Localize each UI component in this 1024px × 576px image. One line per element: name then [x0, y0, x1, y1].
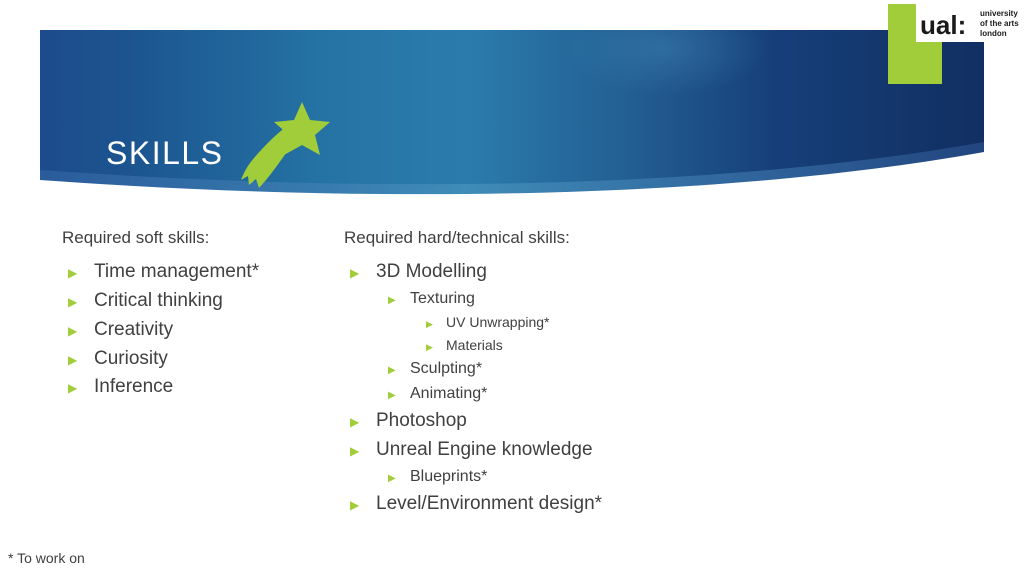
list-item: ▶Animating*	[344, 384, 904, 404]
list-item: ▶Inference	[62, 375, 342, 399]
list-item-label: Blueprints*	[410, 467, 487, 487]
list-item: ▶Creativity	[62, 318, 342, 342]
list-item: ▶Time management*	[62, 260, 342, 284]
list-item: ▶Sculpting*	[344, 359, 904, 379]
logo-line3: london	[980, 29, 1007, 38]
list-item-label: Texturing	[410, 289, 475, 309]
list-item-label: Curiosity	[94, 347, 168, 371]
list-item-label: Time management*	[94, 260, 259, 284]
bullet-triangle-icon: ▶	[68, 325, 94, 337]
bullet-triangle-icon: ▶	[388, 296, 410, 306]
bullet-triangle-icon: ▶	[68, 267, 94, 279]
bullet-triangle-icon: ▶	[68, 382, 94, 394]
list-item-label: Materials	[446, 337, 503, 355]
list-item: ▶Blueprints*	[344, 467, 904, 487]
list-item-label: Creativity	[94, 318, 173, 342]
logo-line2: of the arts	[980, 19, 1019, 28]
list-item: ▶Unreal Engine knowledge	[344, 438, 904, 462]
list-item-label: Level/Environment design*	[376, 492, 602, 516]
bullet-triangle-icon: ▶	[350, 416, 376, 428]
bullet-triangle-icon: ▶	[388, 366, 410, 376]
hard-skills-heading: Required hard/technical skills:	[344, 228, 904, 248]
ual-logo: ual: university of the arts london	[880, 0, 1024, 88]
list-item-label: Inference	[94, 375, 173, 399]
list-item: ▶Curiosity	[62, 347, 342, 371]
bullet-triangle-icon: ▶	[388, 474, 410, 484]
list-item: ▶3D Modelling	[344, 260, 904, 284]
list-item-label: Sculpting*	[410, 359, 482, 379]
bullet-triangle-icon: ▶	[350, 499, 376, 511]
footnote: * To work on	[8, 550, 85, 566]
hard-skills-list: ▶3D Modelling▶Texturing▶UV Unwrapping*▶M…	[344, 260, 904, 515]
list-item-label: Animating*	[410, 384, 487, 404]
bullet-triangle-icon: ▶	[350, 267, 376, 279]
hard-skills-column: Required hard/technical skills: ▶3D Mode…	[344, 228, 904, 520]
shooting-star-icon	[236, 100, 334, 190]
list-item-label: Critical thinking	[94, 289, 223, 313]
list-item-label: Unreal Engine knowledge	[376, 438, 593, 462]
bullet-triangle-icon: ▶	[350, 445, 376, 457]
list-item: ▶Critical thinking	[62, 289, 342, 313]
bullet-triangle-icon: ▶	[388, 391, 410, 401]
list-item-label: Photoshop	[376, 409, 467, 433]
bullet-triangle-icon: ▶	[426, 343, 446, 352]
logo-mark-text: ual:	[920, 10, 966, 40]
list-item: ▶Photoshop	[344, 409, 904, 433]
bullet-triangle-icon: ▶	[68, 354, 94, 366]
bullet-triangle-icon: ▶	[426, 320, 446, 329]
soft-skills-heading: Required soft skills:	[62, 228, 342, 248]
list-item: ▶UV Unwrapping*	[344, 314, 904, 332]
logo-line1: university	[980, 9, 1018, 18]
soft-skills-list: ▶Time management*▶Critical thinking▶Crea…	[62, 260, 342, 399]
title-banner: SKILLS	[40, 30, 984, 195]
soft-skills-column: Required soft skills: ▶Time management*▶…	[62, 228, 342, 404]
bullet-triangle-icon: ▶	[68, 296, 94, 308]
list-item: ▶Materials	[344, 337, 904, 355]
list-item-label: UV Unwrapping*	[446, 314, 550, 332]
list-item: ▶Level/Environment design*	[344, 492, 904, 516]
list-item-label: 3D Modelling	[376, 260, 487, 284]
list-item: ▶Texturing	[344, 289, 904, 309]
page-title: SKILLS	[106, 137, 224, 169]
